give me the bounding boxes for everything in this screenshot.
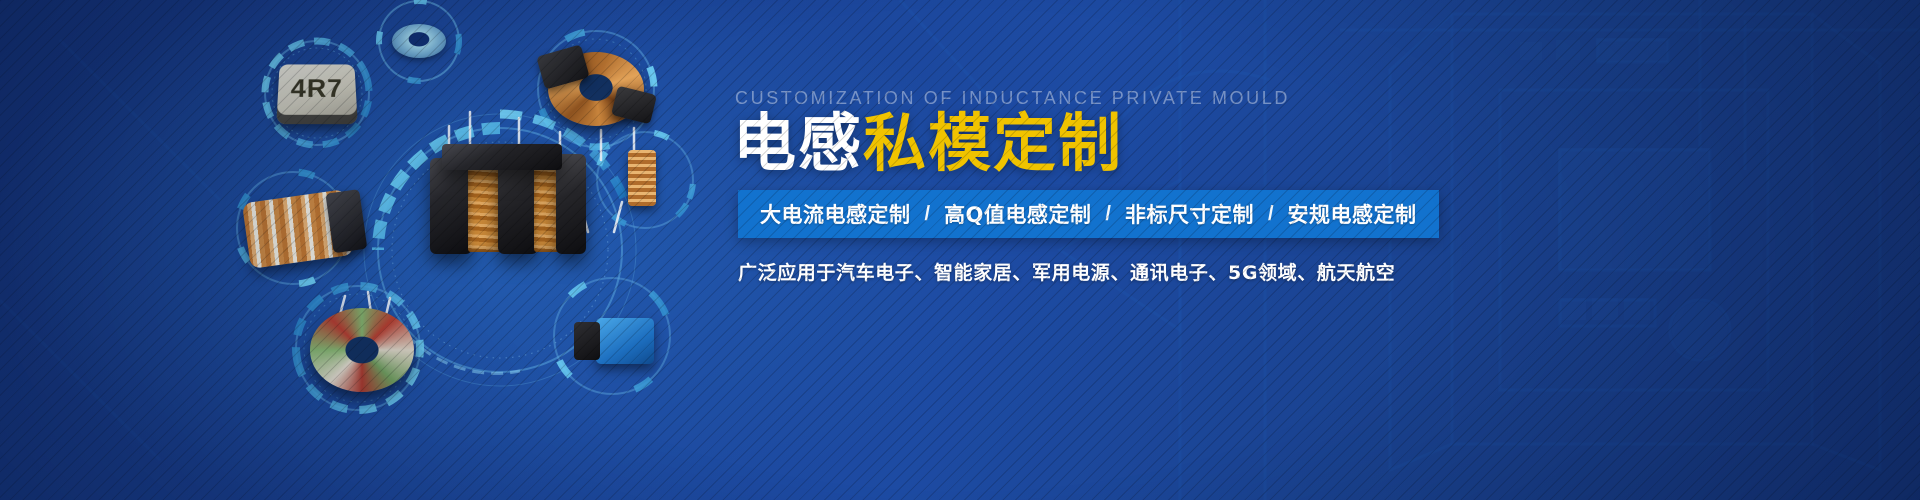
- feature-item-1: 高Q值电感定制: [944, 199, 1091, 229]
- product-rod-inductor: [628, 150, 656, 206]
- product-small-toroid: [392, 24, 446, 58]
- smd-inductor-label: 4R7: [277, 74, 356, 103]
- feature-item-0: 大电流电感定制: [760, 199, 911, 229]
- product-blue-bobbin: [596, 318, 654, 364]
- product-green-toroid: [310, 308, 414, 392]
- headline-primary-text: 电感: [733, 107, 863, 180]
- banner-description: 广泛应用于汽车电子、智能家居、军用电源、通讯电子、5G领域、航天航空: [738, 258, 1395, 285]
- feature-separator-2: /: [1268, 203, 1274, 226]
- banner-eyebrow-text: CUSTOMIZATION OF INDUCTANCE PRIVATE MOUL…: [735, 88, 1290, 109]
- feature-separator-1: /: [1105, 203, 1111, 226]
- product-showcase-visual: 4R7: [0, 0, 740, 500]
- banner-headline: 电感私模定制: [733, 112, 1123, 175]
- product-hero-cluster: [424, 120, 586, 260]
- headline-accent-text: 私模定制: [863, 107, 1123, 180]
- feature-separator-0: /: [925, 203, 931, 226]
- product-smd-inductor: 4R7: [276, 64, 357, 124]
- feature-item-2: 非标尺寸定制: [1125, 199, 1254, 229]
- promo-banner: 4R7 CUSTOMIZATION OF INDUCTANCE PRIVATE …: [0, 0, 1920, 500]
- banner-content: CUSTOMIZATION OF INDUCTANCE PRIVATE MOUL…: [735, 0, 1920, 500]
- feature-highlight-bar: 大电流电感定制 / 高Q值电感定制 / 非标尺寸定制 / 安规电感定制: [738, 190, 1439, 238]
- feature-item-3: 安规电感定制: [1288, 199, 1417, 229]
- product-common-mode-choke: [548, 52, 644, 126]
